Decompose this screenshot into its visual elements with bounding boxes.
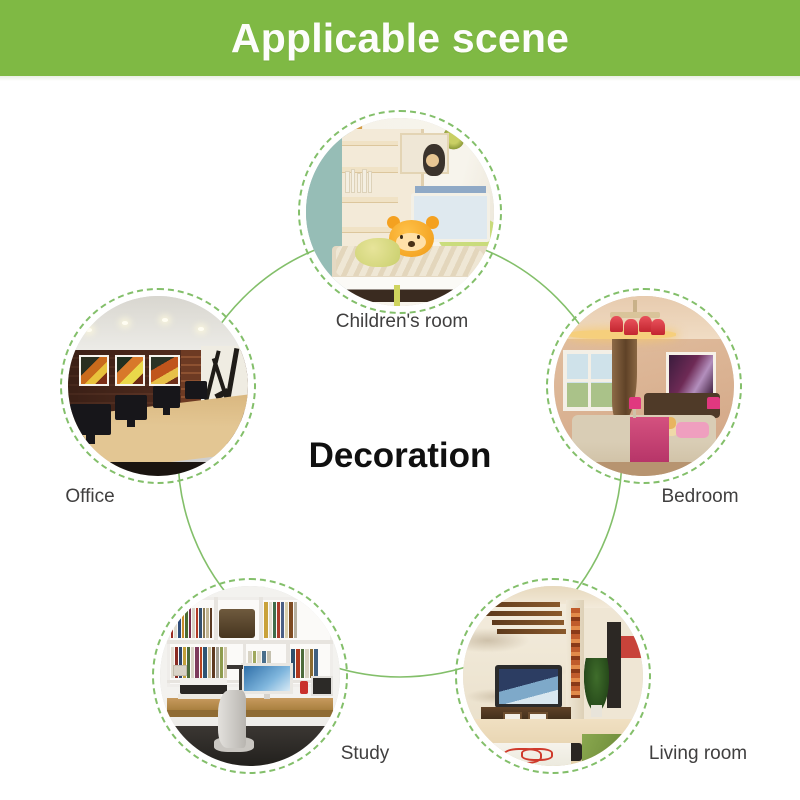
study-photo bbox=[160, 586, 340, 766]
node-label-childrens-room: Children's room bbox=[327, 311, 477, 333]
node-bedroom[interactable] bbox=[546, 288, 742, 484]
office-photo bbox=[68, 296, 248, 476]
node-childrens-room[interactable] bbox=[298, 110, 502, 314]
node-label-living-room: Living room bbox=[608, 743, 788, 765]
living-room-photo bbox=[463, 586, 643, 766]
childrens-room-photo bbox=[306, 118, 494, 306]
page-title: Applicable scene bbox=[231, 15, 569, 62]
bedroom-photo bbox=[554, 296, 734, 476]
node-label-bedroom: Bedroom bbox=[610, 486, 790, 508]
applicable-scene-diagram: Children's room bbox=[0, 81, 800, 800]
node-label-office: Office bbox=[20, 486, 160, 508]
header-banner: Applicable scene bbox=[0, 0, 800, 76]
node-label-study: Study bbox=[290, 743, 440, 765]
diagram-center-label: Decoration bbox=[250, 436, 550, 476]
node-office[interactable] bbox=[60, 288, 256, 484]
